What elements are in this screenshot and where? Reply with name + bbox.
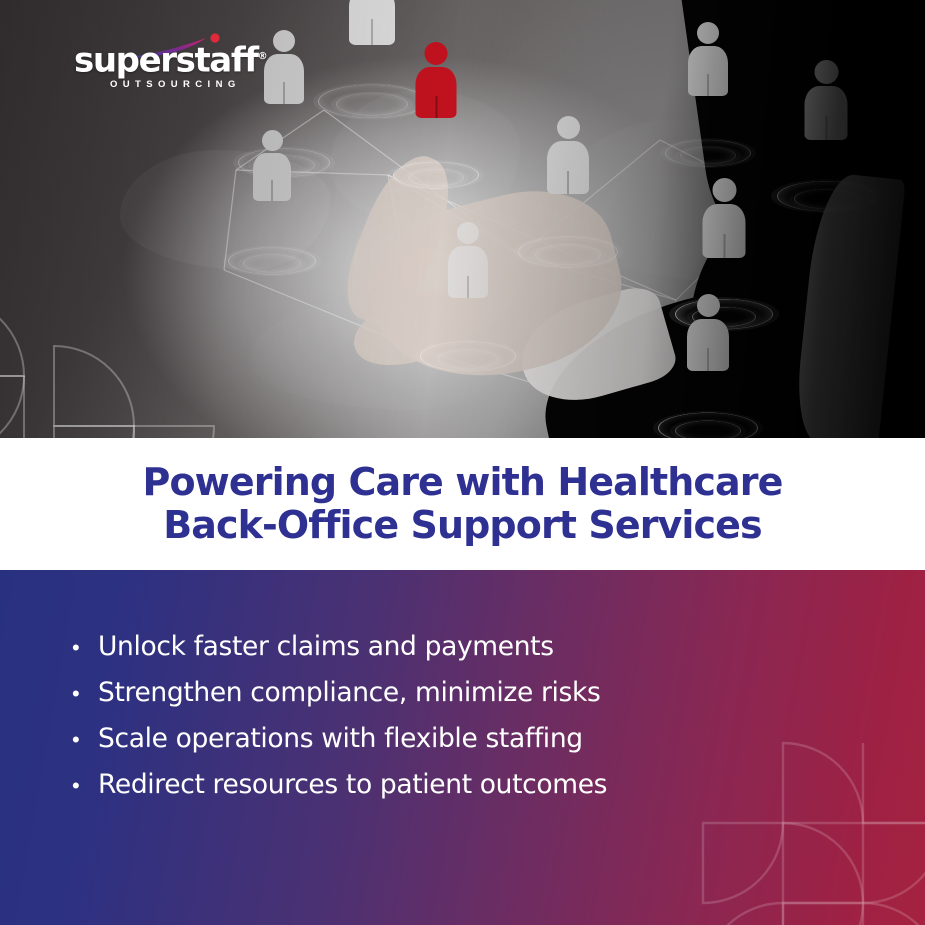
- figure-head: [262, 130, 283, 151]
- benefits-list: • Unlock faster claims and payments • St…: [72, 628, 607, 812]
- figure-head: [457, 222, 479, 244]
- logo-tagline: OUTSOURCING: [110, 79, 274, 90]
- person-pod: [324, 38, 420, 110]
- figure-body: [349, 0, 395, 45]
- figure-leg-split: [825, 116, 827, 140]
- person-figure: [688, 22, 728, 96]
- person-figure: [448, 222, 488, 298]
- list-item-label: Unlock faster claims and payments: [98, 628, 554, 666]
- bullet-marker-icon: •: [72, 675, 98, 713]
- hero-image: superstaff® OUTSOURCING: [0, 0, 925, 438]
- person-pod: [778, 132, 874, 204]
- list-item-label: Scale operations with flexible staffing: [98, 720, 583, 758]
- figure-body: [547, 141, 589, 194]
- list-item-label: Redirect resources to patient outcomes: [98, 766, 607, 804]
- person-figure: [687, 294, 729, 371]
- figure-leg-split: [371, 19, 373, 45]
- logo-wordmark: superstaff®: [74, 40, 274, 77]
- list-item: • Redirect resources to patient outcomes: [72, 766, 607, 805]
- person-pod-highlighted: [388, 110, 484, 182]
- figure-body: [687, 319, 729, 371]
- bullet-marker-icon: •: [72, 721, 98, 759]
- list-item: • Strengthen compliance, minimize risks: [72, 674, 607, 713]
- figure-head: [712, 178, 736, 202]
- pod-ring-inner: [437, 349, 499, 368]
- figure-leg-split: [435, 96, 437, 118]
- list-item: • Unlock faster claims and payments: [72, 628, 607, 667]
- figure-body: [416, 67, 457, 118]
- bullet-marker-icon: •: [72, 767, 98, 805]
- headline-line-2: Back-Office Support Services: [163, 504, 762, 547]
- figure-leg-split: [707, 74, 709, 96]
- person-figure-highlighted: [416, 42, 457, 118]
- figure-head: [273, 30, 295, 52]
- headline-band: Powering Care with Healthcare Back-Offic…: [0, 438, 925, 570]
- bullet-marker-icon: •: [72, 629, 98, 667]
- figure-leg-split: [707, 348, 709, 371]
- person-pod: [660, 364, 756, 436]
- figure-leg-split: [723, 234, 725, 258]
- pod-ring-inner: [408, 169, 464, 186]
- figure-body: [703, 204, 746, 258]
- person-figure: [253, 130, 291, 201]
- pod-ring-inner: [794, 189, 858, 209]
- figure-head: [697, 22, 719, 44]
- benefits-panel: • Unlock faster claims and payments • St…: [0, 570, 925, 925]
- logo-word-text: superstaff: [74, 40, 258, 80]
- figure-head: [697, 294, 720, 317]
- figure-head: [814, 60, 838, 84]
- figure-leg-split: [467, 276, 469, 298]
- list-item: • Scale operations with flexible staffin…: [72, 720, 607, 759]
- figure-body: [805, 86, 848, 140]
- figure-leg-split: [271, 180, 273, 201]
- decorative-pinwheel-icon: [673, 713, 925, 925]
- marketing-poster: superstaff® OUTSOURCING Powering Care wi…: [0, 0, 925, 925]
- pod-ring-inner: [535, 245, 601, 265]
- figure-leg-split: [567, 171, 569, 194]
- person-figure: [547, 116, 589, 194]
- decorative-pinwheel-icon: [0, 286, 234, 438]
- person-pod: [420, 292, 516, 364]
- person-pod: [660, 88, 756, 160]
- pod-ring-inner: [243, 254, 301, 272]
- logo-registered-icon: ®: [258, 51, 268, 62]
- person-figure: [349, 0, 395, 45]
- person-figure: [805, 60, 848, 140]
- figure-head: [425, 42, 448, 65]
- list-item-label: Strengthen compliance, minimize risks: [98, 674, 600, 712]
- person-figure: [703, 178, 746, 258]
- headline-line-1: Powering Care with Healthcare: [143, 461, 783, 504]
- person-pod: [520, 188, 616, 260]
- pod-ring-inner: [675, 421, 741, 438]
- person-pod: [224, 196, 320, 268]
- figure-body: [253, 153, 291, 201]
- figure-head: [557, 116, 580, 139]
- brand-logo[interactable]: superstaff® OUTSOURCING: [74, 40, 274, 92]
- figure-body: [688, 46, 728, 96]
- figure-body: [448, 246, 488, 298]
- figure-leg-split: [283, 82, 285, 104]
- pod-ring-inner: [680, 147, 736, 164]
